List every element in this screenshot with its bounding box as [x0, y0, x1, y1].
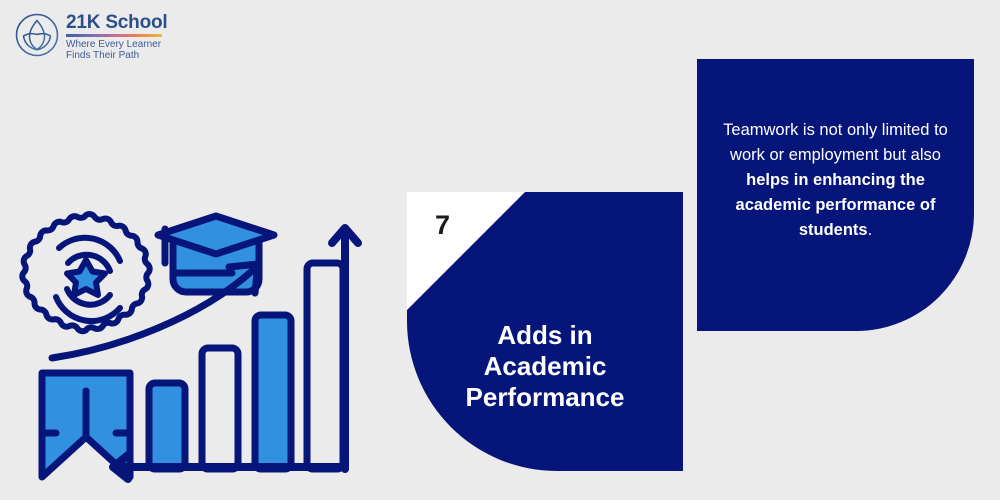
corner-number-badge: 7: [407, 192, 525, 310]
main-point-title: Adds in Academic Performance: [407, 320, 683, 413]
logo-tagline-line1: Where Every Learner: [66, 39, 186, 51]
point-number: 7: [435, 210, 450, 240]
bar-4: [307, 263, 343, 469]
logo-text-block: 21K School Where Every Learner Finds The…: [66, 12, 186, 62]
bar-3: [255, 315, 291, 469]
logo-gradient-rule: [66, 34, 162, 37]
logo-tagline: Where Every Learner Finds Their Path: [66, 39, 186, 62]
description-text-regular: Teamwork is not only limited to work or …: [723, 121, 948, 164]
lotus-circle-icon: [14, 12, 60, 58]
academic-growth-illustration: [10, 205, 370, 490]
logo-tagline-line2: Finds Their Path: [66, 50, 186, 62]
brand-logo[interactable]: 21K School Where Every Learner Finds The…: [14, 10, 189, 60]
description-card: Teamwork is not only limited to work or …: [697, 59, 974, 331]
main-point-title-line2: Academic: [425, 351, 665, 382]
bar-2: [202, 348, 238, 469]
description-text-tail: .: [868, 221, 873, 239]
description-text: Teamwork is not only limited to work or …: [697, 118, 974, 243]
award-ribbon-icon: [22, 214, 149, 477]
main-point-card: 7 Adds in Academic Performance: [407, 192, 683, 471]
main-point-title-line3: Performance: [425, 382, 665, 413]
main-point-title-line1: Adds in: [425, 320, 665, 351]
description-text-bold: helps in enhancing the academic performa…: [736, 171, 936, 239]
corner-triangle: [407, 192, 525, 310]
logo-name: 21K School: [66, 12, 186, 33]
bar-1: [149, 383, 185, 469]
